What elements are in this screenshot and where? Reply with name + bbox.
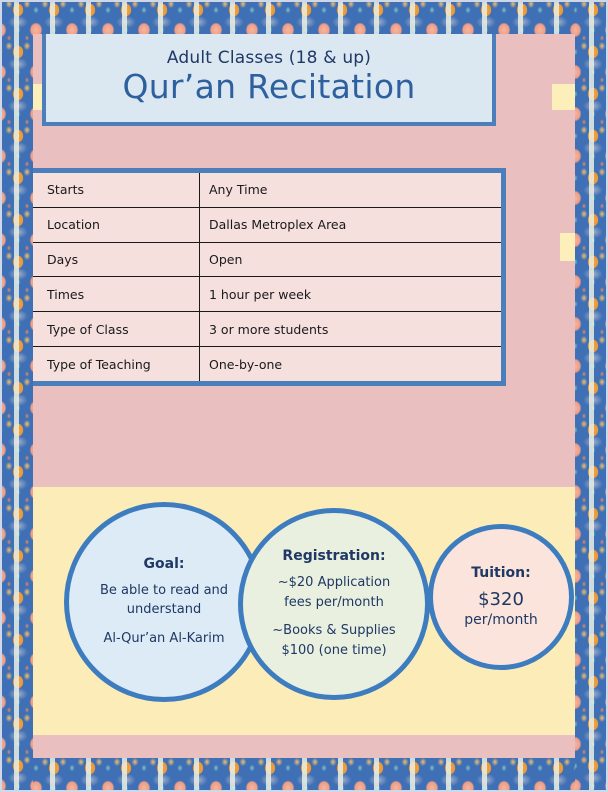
title-eyebrow: Adult Classes (18 & up) [167, 48, 371, 68]
table-cell-label: Location [33, 207, 200, 242]
details-table-frame: Starts Any Time Location Dallas Metrople… [28, 168, 506, 386]
table-row: Starts Any Time [33, 173, 501, 207]
table-cell-value: Open [200, 242, 502, 277]
registration-line-3: ~Books & Supplies [272, 621, 395, 641]
flyer-page: Adult Classes (18 & up) Qur’an Recitatio… [0, 0, 608, 792]
table-row: Days Open [33, 242, 501, 277]
table-row: Times 1 hour per week [33, 277, 501, 312]
registration-circle: Registration: ~$20 Application fees per/… [238, 508, 430, 700]
registration-line-4: $100 (one time) [281, 641, 386, 661]
table-cell-value: Dallas Metroplex Area [200, 207, 502, 242]
page-title: Qur’an Recitation [122, 70, 415, 105]
table-cell-value: 3 or more students [200, 312, 502, 347]
title-box: Adult Classes (18 & up) Qur’an Recitatio… [42, 26, 496, 126]
edge-line-top [0, 0, 608, 2]
registration-heading: Registration: [282, 548, 385, 564]
goal-line-3: Al-Qur’an Al-Karim [103, 629, 224, 649]
goal-line-1: Be able to read and [100, 581, 228, 601]
table-cell-label: Starts [33, 173, 200, 207]
table-cell-value: Any Time [200, 173, 502, 207]
goal-circle: Goal: Be able to read and understand Al-… [64, 502, 264, 702]
table-cell-label: Type of Teaching [33, 347, 200, 381]
goal-line-2: understand [127, 600, 201, 620]
ornate-border-top [0, 0, 608, 34]
tuition-period: per/month [464, 611, 537, 629]
table-cell-label: Days [33, 242, 200, 277]
tuition-amount: $320 [478, 588, 524, 611]
table-row: Type of Teaching One-by-one [33, 347, 501, 381]
ornate-border-right [575, 0, 608, 792]
tuition-circle: Tuition: $320 per/month [428, 524, 574, 670]
table-cell-value: 1 hour per week [200, 277, 502, 312]
details-table: Starts Any Time Location Dallas Metrople… [33, 173, 501, 381]
registration-line-1: ~$20 Application [278, 573, 390, 593]
table-cell-value: One-by-one [200, 347, 502, 381]
goal-heading: Goal: [144, 556, 185, 572]
ornate-border-bottom [0, 758, 608, 792]
edge-line-left [0, 0, 2, 792]
pink-footer-panel [33, 735, 575, 758]
tuition-heading: Tuition: [471, 565, 530, 581]
table-row: Location Dallas Metroplex Area [33, 207, 501, 242]
ornate-border-left [0, 0, 33, 792]
registration-line-2: fees per/month [284, 593, 384, 613]
table-row: Type of Class 3 or more students [33, 312, 501, 347]
table-cell-label: Type of Class [33, 312, 200, 347]
table-cell-label: Times [33, 277, 200, 312]
